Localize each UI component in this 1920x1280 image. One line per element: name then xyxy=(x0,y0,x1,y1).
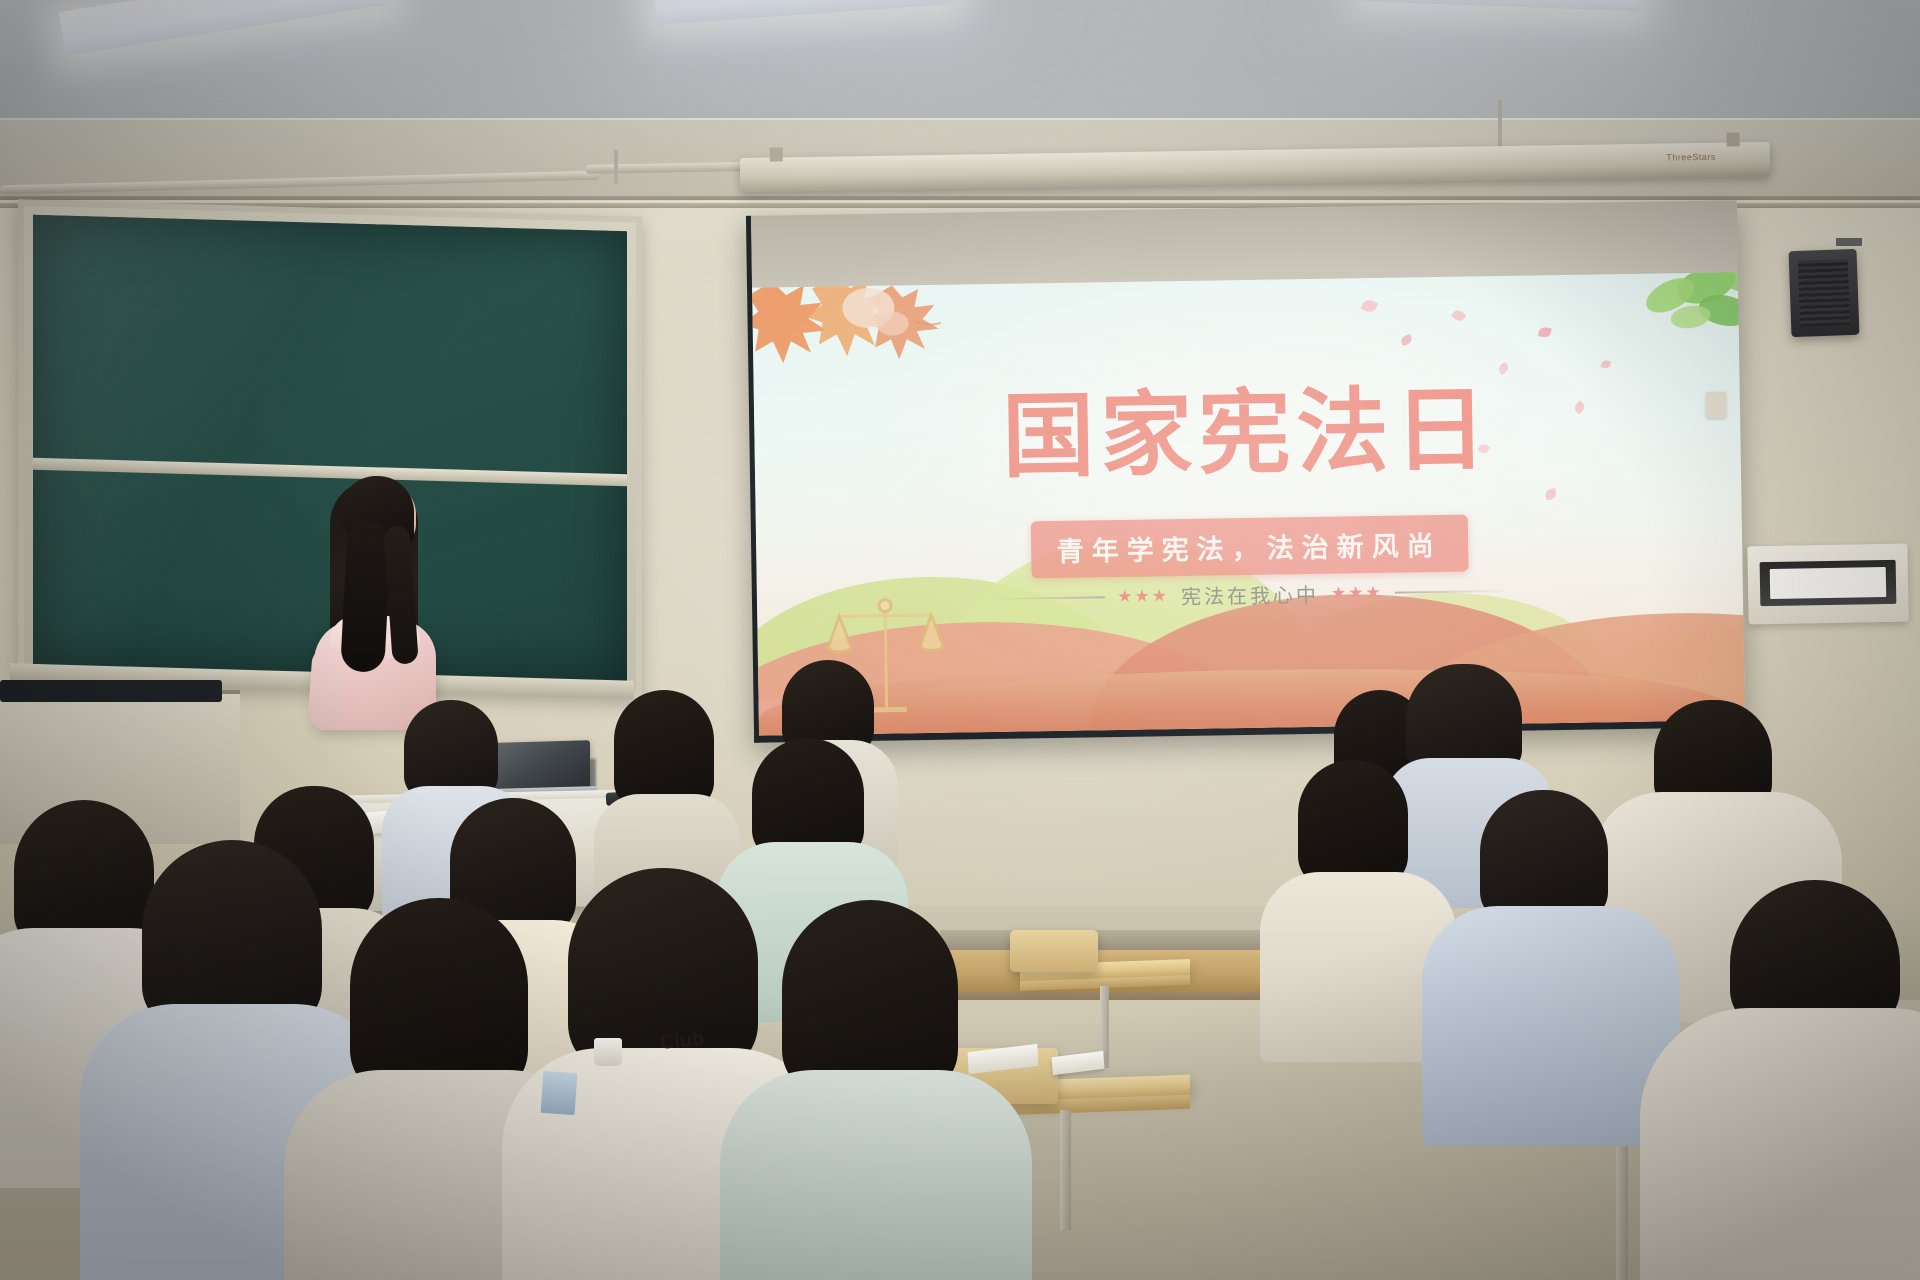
tagline-rule-left xyxy=(993,596,1105,600)
projector-brand-label: ThreeStars xyxy=(1666,152,1716,163)
tagline-rule-right xyxy=(1395,589,1507,593)
control-panel-slot xyxy=(1760,560,1897,606)
student-hair xyxy=(142,840,322,1030)
student-hair xyxy=(404,700,498,800)
projector-hanger-2 xyxy=(1498,100,1502,152)
student-body xyxy=(720,1070,1032,1280)
student-hair xyxy=(1298,760,1408,888)
desk-id-card xyxy=(541,1071,578,1115)
tagline-stars-right: ★★★ xyxy=(1331,582,1383,603)
screen-mount-right xyxy=(1727,132,1740,146)
projector-hanger-1 xyxy=(614,150,618,184)
student-hair xyxy=(1480,790,1608,922)
desk-cup xyxy=(594,1038,622,1066)
classroom-photo: ThreeStars xyxy=(0,0,1920,1280)
wall-speaker xyxy=(1789,249,1860,337)
student-jacket-text: Club xyxy=(659,1028,706,1056)
slide-tagline: 宪法在我心中 xyxy=(1181,579,1319,610)
wall-control-panel[interactable] xyxy=(1747,544,1908,625)
desk-leg-2c xyxy=(1060,1110,1071,1230)
speaker-bracket xyxy=(1836,238,1862,246)
slide-subtitle: 青年学宪法，法治新风尚 xyxy=(1030,515,1468,579)
presenter xyxy=(300,470,440,720)
cabinet-monitor xyxy=(0,680,222,702)
student-hair xyxy=(614,690,714,810)
chair-back-3r xyxy=(1010,930,1098,972)
student-hair xyxy=(350,898,528,1098)
slide-title: 国家宪法日 xyxy=(754,380,1741,487)
slide-content: 国家宪法日 青年学宪法，法治新风尚 ★★★ 宪法在我心中 ★★★ xyxy=(752,272,1745,735)
tagline-stars-left: ★★★ xyxy=(1117,586,1169,607)
control-panel-label xyxy=(1769,567,1886,598)
slide-projection-glow xyxy=(752,272,1745,735)
student-hair xyxy=(782,900,958,1096)
student-front-6 xyxy=(1690,880,1920,1280)
student-mid-4 xyxy=(1452,790,1652,1090)
screen-mount-left xyxy=(770,147,783,161)
student-front-5 xyxy=(760,900,990,1280)
projection-screen: 国家宪法日 青年学宪法，法治新风尚 ★★★ 宪法在我心中 ★★★ xyxy=(746,200,1745,743)
light-switch[interactable] xyxy=(1706,392,1726,418)
student-mid-3 xyxy=(1280,760,1430,1020)
student-body xyxy=(1640,1008,1920,1280)
